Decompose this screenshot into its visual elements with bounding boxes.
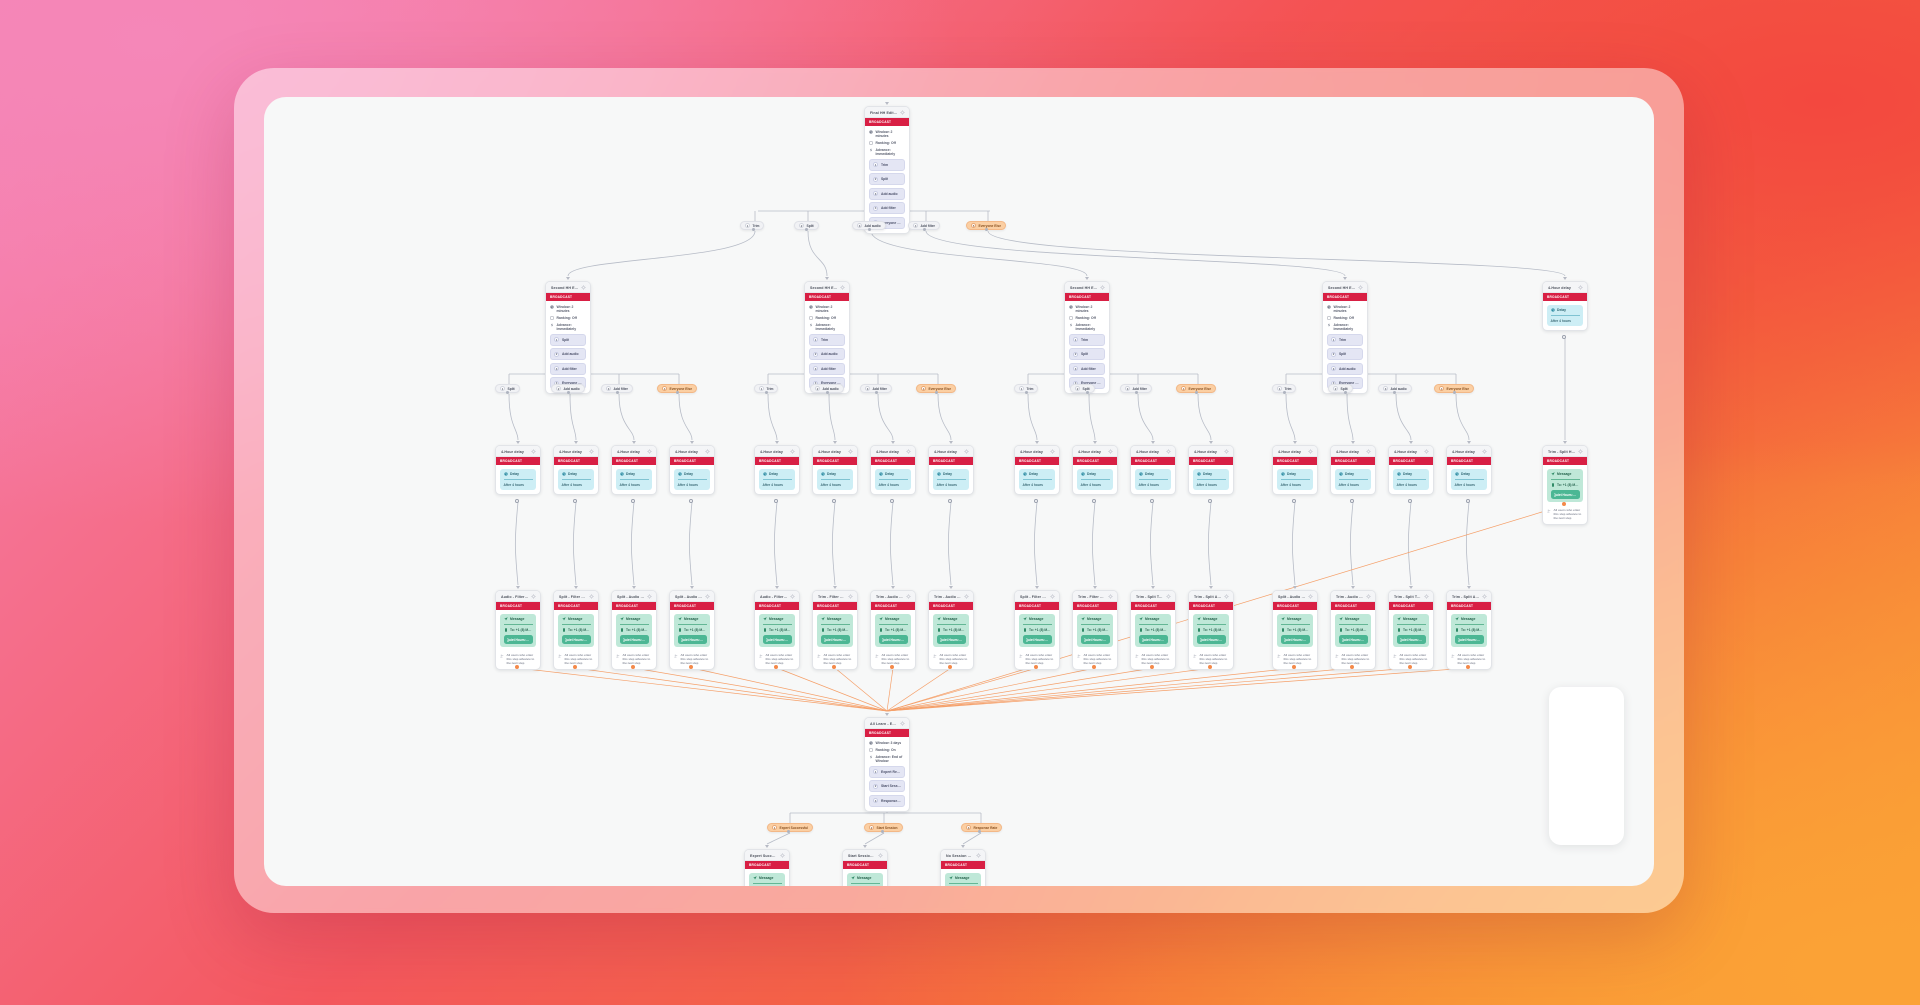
delay-box: DelayAfter 4 hours	[933, 469, 969, 490]
node-option-trim[interactable]: 1Trim	[1327, 334, 1363, 346]
delay-node[interactable]: 4-Hour delayBROADCASTDelayAfter 4 hours	[669, 445, 715, 495]
message-node[interactable]: Audio - Filter TestBROADCASTMessageTo: +…	[754, 590, 800, 670]
quiet-hours-text: Quiet Hours: OFF	[766, 638, 789, 642]
node-option-trim[interactable]: 1Trim	[1069, 334, 1105, 346]
node-header[interactable]: All Learn - Engage...	[865, 718, 909, 729]
gear-icon[interactable]	[790, 594, 795, 599]
delay-node[interactable]: 4-Hour delayBROADCASTDelayAfter 4 hours	[870, 445, 916, 495]
send-icon	[821, 617, 825, 621]
node-header[interactable]: 4-Hour delay	[554, 446, 598, 457]
footnote-text: All users who enter this step advance to…	[565, 654, 595, 666]
node-header[interactable]: 4-Hour delay	[1331, 446, 1375, 457]
node-header[interactable]: Trim - Split All Test	[1447, 591, 1491, 602]
node-option-split[interactable]: 2Split	[1327, 348, 1363, 360]
message-box: MessageTo: +1 (8) Max_name...Quiet Hours…	[1019, 614, 1055, 647]
node-header[interactable]: 4-Hour delay	[1189, 446, 1233, 457]
node-title: All Learn - Engage...	[870, 722, 897, 726]
message-node[interactable]: Split - Audio TestBROADCASTMessageTo: +1…	[611, 590, 657, 670]
message-node[interactable]: Trim - Split HH TestBROADCASTMessageTo: …	[1542, 445, 1588, 525]
node-title: Trim - Audio Test	[1336, 595, 1363, 599]
node-body: Window: 2 minutesRanking: OffAdvance: Im…	[546, 301, 590, 393]
delay-node[interactable]: 4-Hour delayBROADCASTDelayAfter 4 hours	[495, 445, 541, 495]
node-body: Window: 3 daysRanking: OnAdvance: End of…	[865, 737, 909, 811]
footnote-text: All users who enter this step advance to…	[1084, 654, 1114, 666]
pill-number: 2	[556, 386, 561, 391]
node-header[interactable]: Trim - Split Test	[1131, 591, 1175, 602]
rank-icon	[1327, 316, 1331, 320]
gear-icon[interactable]	[1108, 449, 1113, 454]
node-header[interactable]: Start Session - N...	[843, 850, 887, 861]
node-header[interactable]: Trim - Split Test	[1389, 591, 1433, 602]
pill-number: 1	[759, 386, 764, 391]
gear-icon[interactable]	[1578, 285, 1583, 290]
delay-label: Delay	[1145, 472, 1154, 476]
timing-chip: Quiet Hours: OFF	[562, 635, 591, 644]
node-caret-icon	[574, 586, 578, 589]
option-node[interactable]: Second HH Editor...BROADCASTWindow: 2 mi…	[1064, 281, 1110, 394]
divider	[1139, 479, 1168, 480]
divider	[1281, 479, 1310, 480]
delay-sub: After 4 hours	[1023, 483, 1052, 487]
divider	[1397, 479, 1426, 480]
node-option-add-audio[interactable]: 3Add audio	[1327, 363, 1363, 375]
recipient-row: To: +1 (8) Max_name...	[1551, 483, 1580, 487]
node-option-split[interactable]: 2Split	[869, 173, 905, 185]
node-option-split[interactable]: 2Split	[1069, 348, 1105, 360]
message-node[interactable]: Trim - Filter TestBROADCASTMessageTo: +1…	[1072, 590, 1118, 670]
message-node[interactable]: Split - Audio All T...BROADCASTMessageTo…	[669, 590, 715, 670]
rank-icon	[550, 316, 554, 320]
option-label: Response Rate	[881, 799, 901, 803]
node-body: MessageTo: +1 (8) Max_name...Quiet Hours…	[1015, 610, 1059, 651]
pill-number: 5	[971, 223, 976, 228]
gear-icon[interactable]	[1366, 449, 1371, 454]
option-node[interactable]: Second HH Editor...BROADCASTWindow: 2 mi…	[804, 281, 850, 394]
clock-icon	[869, 741, 873, 745]
node-title: 4-Hour delay	[760, 450, 783, 454]
gear-icon[interactable]	[531, 594, 536, 599]
message-node[interactable]: Start Session - N...BROADCASTMessageTo: …	[842, 849, 888, 886]
status-badge: BROADCAST	[929, 602, 973, 610]
users-icon	[1335, 654, 1339, 658]
message-node[interactable]: No Session StartBROADCASTMessageTo: +1 (…	[940, 849, 986, 886]
option-node[interactable]: Second HH Editor...BROADCASTWindow: 2 mi…	[1322, 281, 1368, 394]
node-header[interactable]: Trim - Audio All T...	[929, 591, 973, 602]
delay-node[interactable]: 4-Hour delayBROADCASTDelayAfter 4 hours	[1446, 445, 1492, 495]
option-label: Add filter	[1081, 367, 1096, 371]
delay-sub: After 4 hours	[562, 483, 591, 487]
node-header[interactable]: 4-Hour delay	[1389, 446, 1433, 457]
gear-icon[interactable]	[906, 594, 911, 599]
divider	[1455, 624, 1484, 625]
gear-icon[interactable]	[964, 594, 969, 599]
delay-label: Delay	[1203, 472, 1212, 476]
clock-icon	[879, 472, 883, 476]
gear-icon[interactable]	[589, 594, 594, 599]
delay-node[interactable]: 4-Hour delayBROADCASTDelayAfter 4 hours	[1188, 445, 1234, 495]
node-caret-icon	[765, 845, 769, 848]
users-icon	[1547, 509, 1551, 513]
gear-icon[interactable]	[589, 449, 594, 454]
node-header[interactable]: Trim - Filter Test	[1073, 591, 1117, 602]
node-meta-text: Ranking: Off	[1076, 316, 1096, 320]
node-body: MessageTo: +1 (8) Max_name...Intelligent…	[745, 869, 789, 886]
node-header[interactable]: 4-Hour delay	[1015, 446, 1059, 457]
phone-icon	[879, 628, 883, 632]
node-header[interactable]: Split - Audio All T...	[670, 591, 714, 602]
quiet-hours-text: Quiet Hours: OFF	[1084, 638, 1107, 642]
node-header[interactable]: Trim - Split HH Test	[1543, 446, 1587, 457]
gear-icon[interactable]	[976, 853, 981, 858]
quiet-hours-text: Quiet Hours: OFF	[1458, 638, 1481, 642]
gear-icon[interactable]	[848, 594, 853, 599]
node-header[interactable]: Split - Audio Test	[612, 591, 656, 602]
status-badge: BROADCAST	[1543, 293, 1587, 301]
delay-node[interactable]: 4-Hour delayBROADCASTDelayAfter 4 hours	[1330, 445, 1376, 495]
node-header[interactable]: Second HH Editor...	[805, 282, 849, 293]
gear-icon[interactable]	[848, 449, 853, 454]
delay-row: Delay	[1551, 308, 1580, 312]
node-option-add-audio[interactable]: 2Add audio	[550, 348, 586, 360]
node-title: Split - Filter Test	[1020, 595, 1047, 599]
message-node[interactable]: Expert SuccessfulBROADCASTMessageTo: +1 …	[744, 849, 790, 886]
message-node[interactable]: Split - Filter TestBROADCASTMessageTo: +…	[553, 590, 599, 670]
node-header[interactable]: 4-Hour delay	[871, 446, 915, 457]
clock-icon	[937, 472, 941, 476]
gear-icon[interactable]	[1308, 449, 1313, 454]
users-icon	[1193, 654, 1197, 658]
status-badge: BROADCAST	[1065, 293, 1109, 301]
gear-icon[interactable]	[705, 449, 710, 454]
gear-icon[interactable]	[1100, 285, 1105, 290]
node-title: 4-Hour delay	[1336, 450, 1359, 454]
gear-icon[interactable]	[1166, 449, 1171, 454]
node-meta-row: Ranking: On	[869, 748, 905, 752]
node-header[interactable]: Second HH Editor...	[1065, 282, 1109, 293]
delay-sub: After 4 hours	[763, 483, 792, 487]
node-header[interactable]: Split - Filter Test	[554, 591, 598, 602]
quiet-hours-text: Quiet Hours: OFF	[1400, 638, 1423, 642]
node-title: Audio - Filter Test	[501, 595, 528, 599]
node-header[interactable]: Audio - Filter Test	[755, 591, 799, 602]
option-node[interactable]: Final HH Editor Au...BROADCASTWindow: 2 …	[864, 106, 910, 234]
option-number: 1	[873, 162, 878, 167]
pill-label: Expert Successful	[780, 826, 809, 830]
delay-sub: After 4 hours	[1339, 483, 1368, 487]
footnote-text: All users who enter this step advance to…	[1342, 654, 1372, 666]
phone-icon	[1139, 628, 1143, 632]
status-badge: BROADCAST	[1131, 457, 1175, 465]
hub-node[interactable]: All Learn - Engage...BROADCASTWindow: 3 …	[864, 717, 910, 812]
message-node[interactable]: Audio - Filter TestBROADCASTMessageTo: +…	[495, 590, 541, 670]
delay-label: Delay	[1287, 472, 1296, 476]
node-caret-icon	[1351, 586, 1355, 589]
delay-box: DelayAfter 4 hours	[1277, 469, 1313, 490]
pill-number: 3	[1383, 386, 1388, 391]
node-caret-icon	[1035, 441, 1039, 444]
node-header[interactable]: Trim - Split All Test	[1189, 591, 1233, 602]
message-node[interactable]: Trim - Split All TestBROADCASTMessageTo:…	[1446, 590, 1492, 670]
gear-icon[interactable]	[840, 285, 845, 290]
delay-sub: After 4 hours	[937, 483, 966, 487]
delay-label: Delay	[885, 472, 894, 476]
node-header[interactable]: 4-Hour delay	[929, 446, 973, 457]
node-option-response-rate[interactable]: 3Response Rate	[869, 795, 905, 807]
delay-node[interactable]: 4-Hour delayBROADCASTDelayAfter 4 hours	[1388, 445, 1434, 495]
node-body: MessageTo: +1 (8) Max_name...Quiet Hours…	[1131, 610, 1175, 651]
delay-box: DelayAfter 4 hours	[1019, 469, 1055, 490]
gear-icon[interactable]	[1424, 449, 1429, 454]
message-box: MessageTo: +1 (8) Max_name...Quiet Hours…	[1451, 614, 1487, 647]
node-header[interactable]: 4-Hour delay	[755, 446, 799, 457]
workflow-canvas[interactable]: Final HH Editor Au...BROADCASTWindow: 2 …	[264, 97, 1654, 886]
gear-icon[interactable]	[906, 449, 911, 454]
delay-row: Delay	[678, 472, 707, 476]
bolt-icon	[550, 323, 554, 327]
footnote-text: All users who enter this step advance to…	[681, 654, 711, 666]
node-title: Trim - Split Test	[1394, 595, 1421, 599]
option-node[interactable]: Second HH Editor...BROADCASTWindow: 2 mi…	[545, 281, 591, 394]
node-header[interactable]: 4-Hour delay	[1447, 446, 1491, 457]
node-body: MessageTo: +1 (8) Max_name...Quiet Hours…	[670, 610, 714, 651]
message-node[interactable]: Split - Filter TestBROADCASTMessageTo: +…	[1014, 590, 1060, 670]
node-caret-icon	[825, 277, 829, 280]
node-meta-row: Advance: Immediately	[809, 323, 845, 332]
gear-icon[interactable]	[878, 853, 883, 858]
message-node[interactable]: Trim - Split All TestBROADCASTMessageTo:…	[1188, 590, 1234, 670]
message-preview-panel[interactable]	[1549, 687, 1624, 845]
gear-icon[interactable]	[1224, 594, 1229, 599]
message-label: Message	[568, 617, 582, 621]
option-label: Split	[1339, 352, 1346, 356]
divider	[1023, 479, 1052, 480]
node-header[interactable]: 4-Hour delay	[496, 446, 540, 457]
message-box: MessageTo: +1 (8) Max_name...Quiet Hours…	[674, 614, 710, 647]
node-option-add-audio[interactable]: 3Add audio	[869, 188, 905, 200]
gear-icon[interactable]	[900, 110, 905, 115]
node-option-add-filter[interactable]: 4Add filter	[869, 202, 905, 214]
timing-chip: Quiet Hours: OFF	[937, 635, 966, 644]
message-node[interactable]: Trim - Split TestBROADCASTMessageTo: +1 …	[1388, 590, 1434, 670]
status-badge: BROADCAST	[865, 118, 909, 126]
option-label: Add filter	[821, 367, 836, 371]
message-node[interactable]: Trim - Audio TestBROADCASTMessageTo: +1 …	[1330, 590, 1376, 670]
gear-icon[interactable]	[900, 721, 905, 726]
node-meta-row: Window: 2 minutes	[869, 130, 905, 139]
delay-node[interactable]: 4-Hour delayBROADCASTDelayAfter 4 hours	[553, 445, 599, 495]
node-header[interactable]: 4-Hour delay	[1131, 446, 1175, 457]
node-option-trim[interactable]: 1Trim	[809, 334, 845, 346]
delay-node[interactable]: 4-Hour delayBROADCASTDelayAfter 4 hours	[754, 445, 800, 495]
pill-label: Everyone Else	[1447, 387, 1470, 391]
node-body: DelayAfter 4 hours	[1273, 465, 1317, 494]
node-meta-row: Advance: End of Window	[869, 755, 905, 764]
node-header[interactable]: Split - Audio Test	[1273, 591, 1317, 602]
branch-pill-expert-successful[interactable]: 1Expert Successful	[767, 823, 813, 832]
node-header[interactable]: Trim - Filter Test	[813, 591, 857, 602]
node-option-start-session[interactable]: 2Start Session	[869, 780, 905, 792]
recipient-row: To: +1 (8) Max_name...	[1081, 628, 1110, 632]
clock-icon	[869, 130, 873, 134]
delay-box: DelayAfter 4 hours	[1547, 305, 1583, 326]
branch-pill-response-rate[interactable]: 3Response Rate	[961, 823, 1002, 832]
gear-icon[interactable]	[581, 285, 586, 290]
node-meta-text: Advance: Immediately	[557, 323, 587, 332]
delay-sub: After 4 hours	[678, 483, 707, 487]
pill-number: 1	[1019, 386, 1024, 391]
node-caret-icon	[690, 441, 694, 444]
divider	[678, 624, 707, 625]
quiet-hours-text: Quiet Hours: OFF	[1342, 638, 1365, 642]
gear-icon[interactable]	[1166, 594, 1171, 599]
gear-icon[interactable]	[531, 449, 536, 454]
send-icon	[1139, 617, 1143, 621]
phone-icon	[562, 628, 566, 632]
message-node[interactable]: Split - Audio TestBROADCASTMessageTo: +1…	[1272, 590, 1318, 670]
node-header[interactable]: Second HH Editor...	[1323, 282, 1367, 293]
gear-icon[interactable]	[647, 594, 652, 599]
node-header[interactable]: 4-Hour delay	[1073, 446, 1117, 457]
message-box: MessageTo: +1 (8) Max_name...Intelligent…	[847, 873, 883, 886]
node-option-split[interactable]: 1Split	[550, 334, 586, 346]
recipient-row: To: +1 (8) Max_name...	[562, 628, 591, 632]
gear-icon[interactable]	[780, 853, 785, 858]
message-box: MessageTo: +1 (8) Max_name...Quiet Hours…	[1547, 469, 1583, 502]
delay-node[interactable]: 4-Hour delayBROADCASTDelayAfter 4 hours	[928, 445, 974, 495]
gear-icon[interactable]	[1308, 594, 1313, 599]
node-header[interactable]: Trim - Audio Test	[871, 591, 915, 602]
message-row: Message	[1551, 472, 1580, 476]
delay-node[interactable]: 4-Hour delayBROADCASTDelayAfter 4 hours	[812, 445, 858, 495]
node-caret-icon	[775, 586, 779, 589]
node-header[interactable]: Expert Successful	[745, 850, 789, 861]
node-meta-text: Window: 2 minutes	[1076, 305, 1106, 314]
gear-icon[interactable]	[705, 594, 710, 599]
node-header[interactable]: Trim - Audio Test	[1331, 591, 1375, 602]
delay-node[interactable]: 4-Hour delayBROADCASTDelayAfter 4 hours	[1130, 445, 1176, 495]
recipient-text: To: +1 (8) Max_name...	[943, 628, 966, 632]
status-badge: BROADCAST	[929, 457, 973, 465]
node-header[interactable]: 4-Hour delay	[670, 446, 714, 457]
gear-icon[interactable]	[790, 449, 795, 454]
gear-icon[interactable]	[647, 449, 652, 454]
message-row: Message	[1339, 617, 1368, 621]
node-meta-text: Window: 2 minutes	[816, 305, 846, 314]
node-header[interactable]: 4-Hour delay	[813, 446, 857, 457]
node-option-add-filter[interactable]: 3Add filter	[550, 363, 586, 375]
delay-node[interactable]: 4-Hour delayBROADCASTDelayAfter 4 hours	[1014, 445, 1060, 495]
delay-label: Delay	[626, 472, 635, 476]
gear-icon[interactable]	[1050, 449, 1055, 454]
delay-row: Delay	[1081, 472, 1110, 476]
node-title: 4-Hour delay	[1548, 286, 1571, 290]
status-badge: BROADCAST	[805, 293, 849, 301]
message-row: Message	[851, 876, 880, 880]
node-header[interactable]: No Session Start	[941, 850, 985, 861]
rank-icon	[1069, 316, 1073, 320]
delay-sub: After 4 hours	[1551, 319, 1580, 323]
send-icon	[1551, 472, 1555, 476]
delay-node[interactable]: 4-Hour delayBROADCASTDelayAfter 4 hours	[1272, 445, 1318, 495]
pill-number: 3	[865, 386, 870, 391]
node-option-add-audio[interactable]: 2Add audio	[809, 348, 845, 360]
node-header[interactable]: 4-Hour delay	[1273, 446, 1317, 457]
delay-box: DelayAfter 4 hours	[875, 469, 911, 490]
message-label: Message	[684, 617, 698, 621]
recipient-row: To: +1 (8) Max_name...	[763, 628, 792, 632]
pill-label: Add audio	[823, 387, 839, 391]
message-box: MessageTo: +1 (8) Max_name...Quiet Hours…	[1393, 614, 1429, 647]
status-badge: BROADCAST	[1273, 602, 1317, 610]
node-header[interactable]: Split - Filter Test	[1015, 591, 1059, 602]
message-node[interactable]: Trim - Filter TestBROADCASTMessageTo: +1…	[812, 590, 858, 670]
option-number: 3	[1073, 366, 1078, 371]
recipient-text: To: +1 (8) Max_name...	[626, 628, 649, 632]
node-title: Trim - Filter Test	[818, 595, 845, 599]
users-icon	[500, 654, 504, 658]
message-node[interactable]: Trim - Split TestBROADCASTMessageTo: +1 …	[1130, 590, 1176, 670]
recipient-text: To: +1 (8) Max_name...	[568, 628, 591, 632]
gear-icon[interactable]	[1358, 285, 1363, 290]
node-option-trim[interactable]: 1Trim	[869, 159, 905, 171]
node-body: MessageTo: +1 (8) Max_name...Quiet Hours…	[755, 610, 799, 651]
branch-pill-split[interactable]: 2Split	[1328, 384, 1353, 393]
divider	[937, 479, 966, 480]
gear-icon[interactable]	[1050, 594, 1055, 599]
status-badge: BROADCAST	[1073, 457, 1117, 465]
message-node[interactable]: Trim - Audio All T...BROADCASTMessageTo:…	[928, 590, 974, 670]
delay-node[interactable]: 4-Hour delayBROADCASTDelayAfter 4 hours	[1542, 281, 1588, 331]
gear-icon[interactable]	[1424, 594, 1429, 599]
users-icon	[875, 654, 879, 658]
node-header[interactable]: 4-Hour delay	[612, 446, 656, 457]
message-row: Message	[949, 876, 978, 880]
node-option-add-filter[interactable]: 3Add filter	[1069, 363, 1105, 375]
gear-icon[interactable]	[1366, 594, 1371, 599]
gear-icon[interactable]	[1578, 449, 1583, 454]
delay-row: Delay	[1023, 472, 1052, 476]
delay-row: Delay	[879, 472, 908, 476]
users-icon	[1077, 654, 1081, 658]
node-title: 4-Hour delay	[501, 450, 524, 454]
node-caret-icon	[961, 845, 965, 848]
divider	[763, 624, 792, 625]
node-header[interactable]: Second HH Editor...	[546, 282, 590, 293]
recipient-text: To: +1 (8) Max_name...	[769, 628, 792, 632]
node-header[interactable]: Audio - Filter Test	[496, 591, 540, 602]
gear-icon[interactable]	[1108, 594, 1113, 599]
message-box: MessageTo: +1 (8) Max_name...Quiet Hours…	[1335, 614, 1371, 647]
pill-label: Trim	[767, 387, 774, 391]
pill-label: Split	[807, 224, 814, 228]
gear-icon[interactable]	[964, 449, 969, 454]
clock-icon	[1081, 472, 1085, 476]
gear-icon[interactable]	[1482, 594, 1487, 599]
recipient-text: To: +1 (8) Max_name...	[1145, 628, 1168, 632]
node-option-expert-review[interactable]: 1Expert Review	[869, 766, 905, 778]
gear-icon[interactable]	[1482, 449, 1487, 454]
delay-node[interactable]: 4-Hour delayBROADCASTDelayAfter 4 hours	[1072, 445, 1118, 495]
message-node[interactable]: Trim - Audio TestBROADCASTMessageTo: +1 …	[870, 590, 916, 670]
node-meta-text: Ranking: Off	[557, 316, 577, 320]
node-header[interactable]: Final HH Editor Au...	[865, 107, 909, 118]
branch-pill-split[interactable]: 2Split	[1070, 384, 1095, 393]
delay-node[interactable]: 4-Hour delayBROADCASTDelayAfter 4 hours	[611, 445, 657, 495]
message-label: Message	[1461, 617, 1475, 621]
node-header[interactable]: 4-Hour delay	[1543, 282, 1587, 293]
node-option-add-filter[interactable]: 3Add filter	[809, 363, 845, 375]
gear-icon[interactable]	[1224, 449, 1229, 454]
